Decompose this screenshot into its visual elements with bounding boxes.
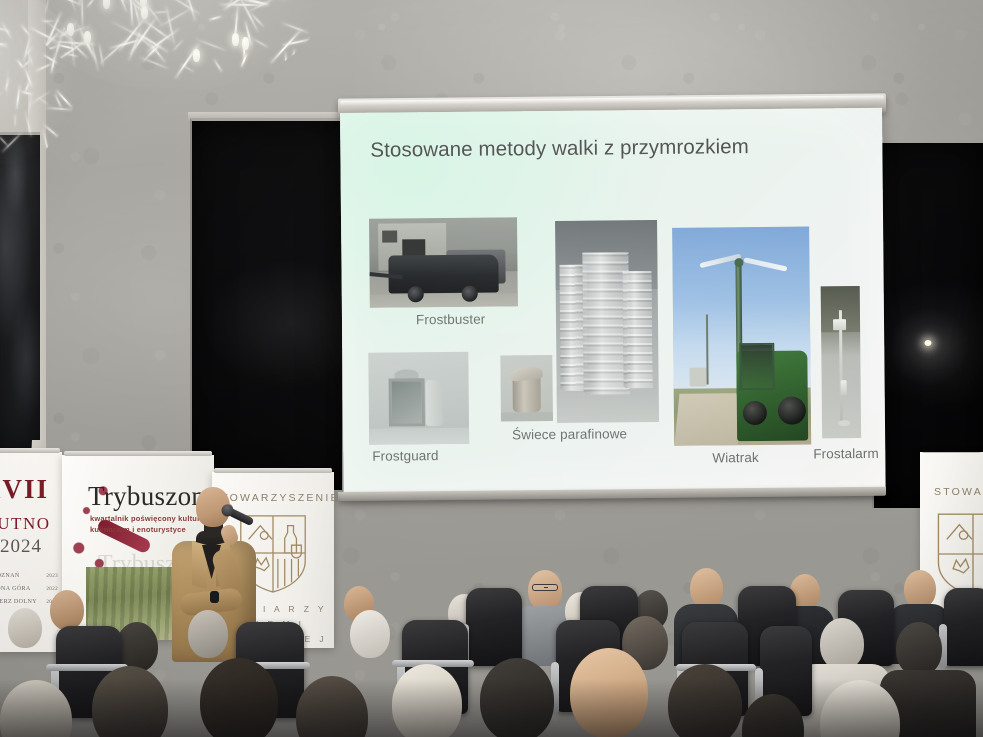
banner-rail xyxy=(0,448,60,453)
audience-head xyxy=(480,658,554,737)
microphone-icon xyxy=(228,508,255,527)
audience-head xyxy=(50,590,84,630)
banner-rail xyxy=(64,451,212,456)
audience-head xyxy=(392,664,462,737)
caption-frostbuster: Frostbuster xyxy=(416,312,486,328)
chair xyxy=(466,588,522,666)
audience-head xyxy=(350,610,390,658)
banner-stowarzyszenie-right-word: STOWARZY xyxy=(934,486,983,498)
dark-marble-panel-left xyxy=(0,132,40,457)
chair xyxy=(944,588,983,666)
screen-surface: Stosowane metody walki z przymrozkiem Fr… xyxy=(340,108,886,495)
projection-screen: Stosowane metody walki z przymrozkiem Fr… xyxy=(334,96,888,500)
audience-head xyxy=(200,658,278,737)
banner-kutno-city: KUTNO xyxy=(0,514,60,534)
conference-room-photo: Stosowane metody walki z przymrozkiem Fr… xyxy=(0,0,983,737)
audience-seating xyxy=(0,560,983,737)
caption-swiece-parafinowe: Świece parafinowe xyxy=(512,426,627,442)
banner-rail xyxy=(214,468,332,473)
audience-head xyxy=(92,666,168,737)
dark-window-panel-center xyxy=(190,118,342,490)
audience-head xyxy=(188,610,228,658)
audience-head xyxy=(904,570,936,608)
audience-head xyxy=(896,622,942,676)
audience-head xyxy=(690,568,723,608)
slide-photo-frostalarm xyxy=(821,286,861,438)
banner-kutno-title: XVII xyxy=(0,474,58,505)
window-reflection-glow xyxy=(890,308,968,386)
slide-photo-frostguard xyxy=(368,352,469,445)
caption-frostguard: Frostguard xyxy=(372,448,438,464)
banner-rail xyxy=(922,452,981,453)
slide-photo-frostbuster xyxy=(369,217,518,307)
slide-photo-wiatrak xyxy=(672,227,811,446)
marble-veining xyxy=(0,135,40,457)
presentation-slide: Stosowane metody walki z przymrozkiem Fr… xyxy=(340,108,886,495)
banner-kutno-year: 2024 xyxy=(0,536,64,558)
audience-head xyxy=(296,676,368,737)
caption-wiatrak: Wiatrak xyxy=(712,450,759,465)
slide-photo-candle xyxy=(500,355,553,421)
audience-head xyxy=(570,648,648,737)
slide-photo-candle-pallets xyxy=(555,220,659,423)
audience-head xyxy=(668,664,742,737)
caption-frostalarm: Frostalarm xyxy=(813,446,879,462)
audience-head xyxy=(8,608,42,648)
eyeglasses-icon xyxy=(532,584,558,591)
audience-head xyxy=(820,618,864,670)
slide-title: Stosowane metody walki z przymrozkiem xyxy=(370,134,860,163)
